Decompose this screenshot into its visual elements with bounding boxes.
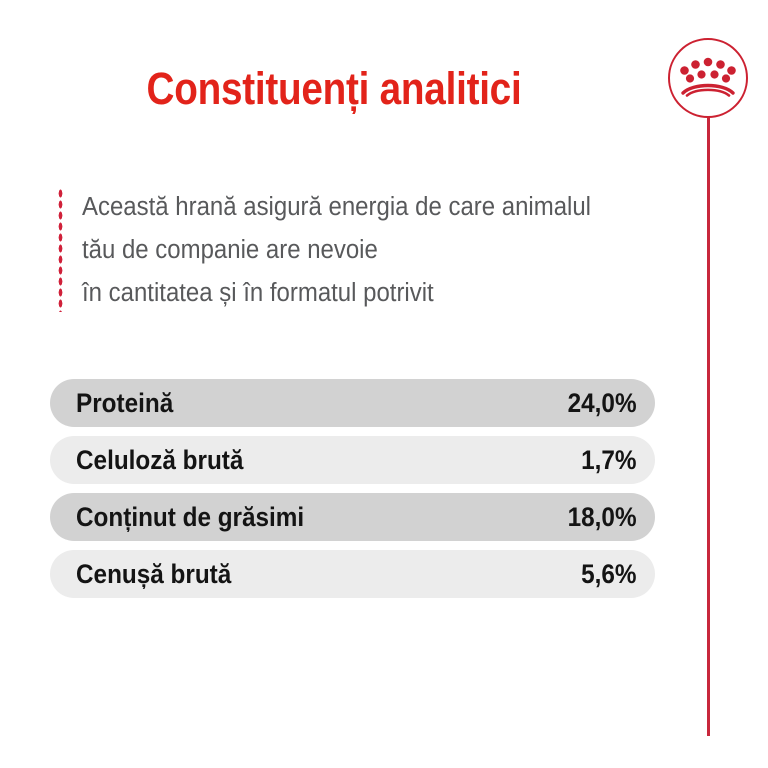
intro-line: Această hrană asigură energia de care an… [82, 186, 633, 229]
constituent-value: 5,6% [582, 561, 637, 588]
infographic-page: Constituenți analitici Această hrană asi… [0, 0, 768, 768]
constituent-label: Conținut de grăsimi [76, 504, 304, 531]
constituent-label: Celuloză brută [76, 447, 243, 474]
table-row: Conținut de grăsimi 18,0% [50, 493, 655, 541]
constituent-value: 1,7% [582, 447, 637, 474]
constituent-label: Proteină [76, 390, 173, 417]
analytical-constituents-table: Proteină 24,0% Celuloză brută 1,7% Conți… [50, 379, 655, 607]
table-row: Proteină 24,0% [50, 379, 655, 427]
crown-icon [679, 57, 737, 97]
intro-paragraph: Această hrană asigură energia de care an… [82, 186, 633, 315]
constituent-value: 18,0% [568, 504, 637, 531]
intro-line: tău de companie are nevoie [82, 229, 633, 272]
constituent-label: Cenușă brută [76, 561, 231, 588]
logo-stem-line [707, 110, 710, 736]
intro-line: în cantitatea și în formatul potrivit [82, 272, 633, 315]
table-row: Cenușă brută 5,6% [50, 550, 655, 598]
dotted-rule-icon [58, 188, 63, 312]
constituent-value: 24,0% [568, 390, 637, 417]
table-row: Celuloză brută 1,7% [50, 436, 655, 484]
page-title: Constituenți analitici [47, 63, 621, 115]
